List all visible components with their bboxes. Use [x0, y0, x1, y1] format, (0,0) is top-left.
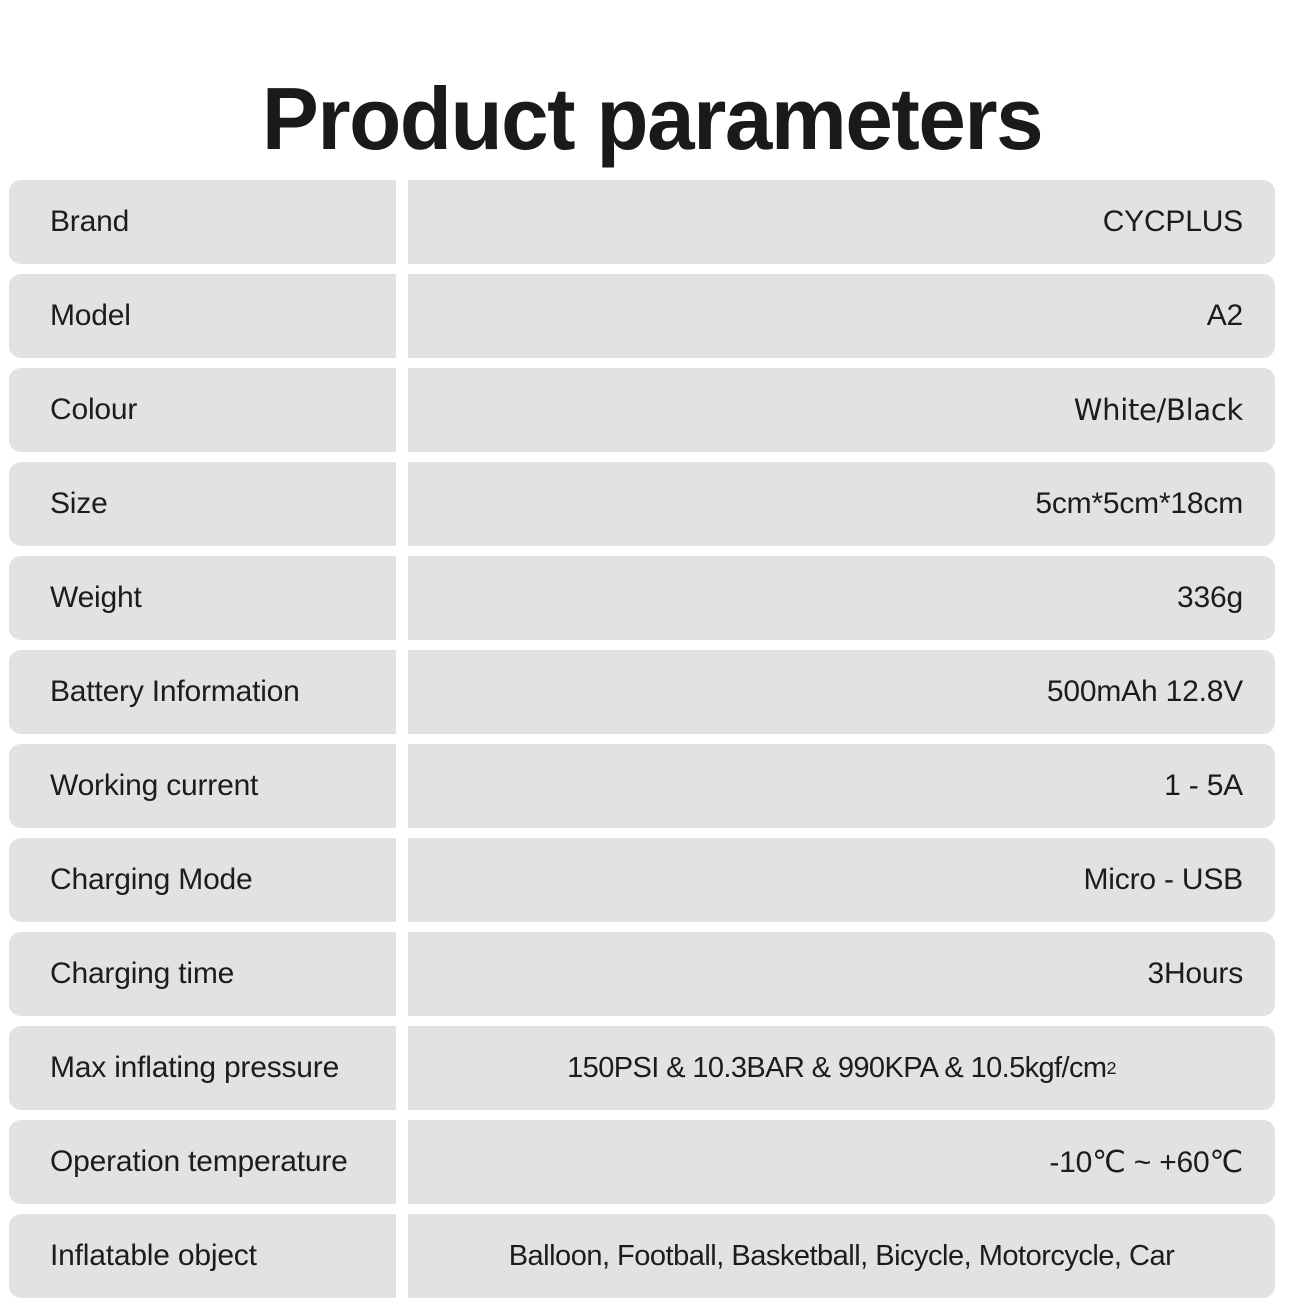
spec-label-operation-temperature: Operation temperature [9, 1120, 396, 1204]
column-gap [396, 274, 408, 358]
spec-value-battery-information: 500mAh 12.8V [408, 650, 1275, 734]
table-row: Inflatable object Balloon, Football, Bas… [9, 1214, 1275, 1298]
product-parameters-page: Product parameters Brand CYCPLUS Model A… [0, 0, 1304, 1310]
column-gap [396, 462, 408, 546]
spec-value-charging-time: 3Hours [408, 932, 1275, 1016]
spec-value-brand: CYCPLUS [408, 180, 1275, 264]
table-row: Charging time 3Hours [9, 932, 1275, 1016]
column-gap [396, 1120, 408, 1204]
column-gap [396, 368, 408, 452]
spec-label-charging-time: Charging time [9, 932, 396, 1016]
column-gap [396, 1026, 408, 1110]
spec-label-colour: Colour [9, 368, 396, 452]
spec-label-battery-information: Battery Information [9, 650, 396, 734]
spec-label-working-current: Working current [9, 744, 396, 828]
spec-value-inflatable-object: Balloon, Football, Basketball, Bicycle, … [408, 1214, 1275, 1298]
spec-value-size: 5cm*5cm*18cm [408, 462, 1275, 546]
spec-value-max-inflating-pressure: 150PSI & 10.3BAR & 990KPA & 10.5kgf/cm2 [408, 1026, 1275, 1110]
page-title: Product parameters [20, 73, 1285, 165]
spec-value-colour: White/Black [408, 368, 1275, 452]
spec-value-weight: 336g [408, 556, 1275, 640]
spec-value-charging-mode: Micro - USB [408, 838, 1275, 922]
table-row: Colour White/Black [9, 368, 1275, 452]
spec-value-model: A2 [408, 274, 1275, 358]
spec-value-operation-temperature: -10℃ ~ +60℃ [408, 1120, 1275, 1204]
spec-label-size: Size [9, 462, 396, 546]
table-row: Battery Information 500mAh 12.8V [9, 650, 1275, 734]
table-row: Model A2 [9, 274, 1275, 358]
spec-label-model: Model [9, 274, 396, 358]
spec-label-weight: Weight [9, 556, 396, 640]
spec-label-max-inflating-pressure: Max inflating pressure [9, 1026, 396, 1110]
spec-label-inflatable-object: Inflatable object [9, 1214, 396, 1298]
table-row: Max inflating pressure 150PSI & 10.3BAR … [9, 1026, 1275, 1110]
specification-table: Brand CYCPLUS Model A2 Colour White/Blac… [9, 180, 1275, 1308]
column-gap [396, 744, 408, 828]
table-row: Size 5cm*5cm*18cm [9, 462, 1275, 546]
spec-label-brand: Brand [9, 180, 396, 264]
table-row: Operation temperature -10℃ ~ +60℃ [9, 1120, 1275, 1204]
column-gap [396, 650, 408, 734]
table-row: Charging Mode Micro - USB [9, 838, 1275, 922]
table-row: Weight 336g [9, 556, 1275, 640]
column-gap [396, 556, 408, 640]
column-gap [396, 932, 408, 1016]
spec-value-working-current: 1 - 5A [408, 744, 1275, 828]
spec-label-charging-mode: Charging Mode [9, 838, 396, 922]
table-row: Working current 1 - 5A [9, 744, 1275, 828]
spec-value-max-inflating-pressure-text: 150PSI & 10.3BAR & 990KPA & 10.5kgf/cm [567, 1052, 1106, 1085]
column-gap [396, 1214, 408, 1298]
column-gap [396, 838, 408, 922]
column-gap [396, 180, 408, 264]
table-row: Brand CYCPLUS [9, 180, 1275, 264]
